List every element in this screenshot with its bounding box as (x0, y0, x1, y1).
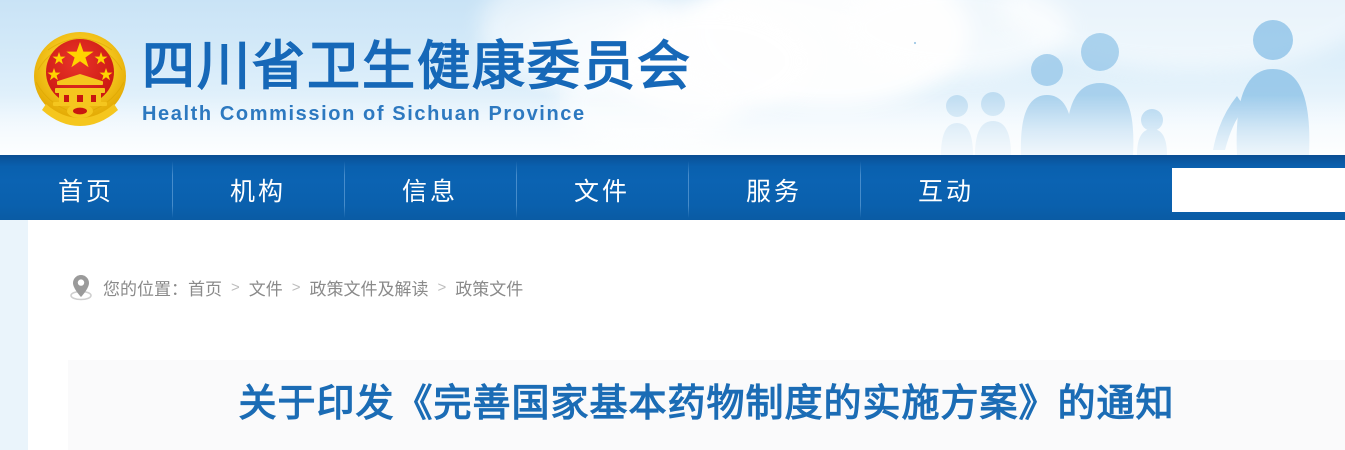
article-title: 关于印发《完善国家基本药物制度的实施方案》的通知 (68, 360, 1345, 432)
site-logo-text: 四川省卫生健康委员会 Health Commission of Sichuan … (142, 36, 692, 126)
nav-items-row: 首页 机构 信息 文件 服务 互动 (0, 155, 1345, 220)
page-root: 四川省卫生健康委员会 Health Commission of Sichuan … (0, 0, 1345, 450)
breadcrumb-item-policy-documents[interactable]: 政策文件 (455, 275, 523, 300)
breadcrumb-separator: > (283, 279, 310, 296)
page-body: 您的位置： 首页 > 文件 > 政策文件及解读 > 政策文件 关于印发《完善国家… (0, 220, 1345, 450)
location-pin-icon (68, 273, 94, 301)
article-panel: 关于印发《完善国家基本药物制度的实施方案》的通知 (68, 360, 1345, 450)
breadcrumb-item-home[interactable]: 首页 (188, 275, 222, 300)
nav-item-services[interactable]: 服务 (688, 155, 860, 220)
main-navigation: 首页 机构 信息 文件 服务 互动 (0, 155, 1345, 220)
site-header: 四川省卫生健康委员会 Health Commission of Sichuan … (0, 0, 1345, 155)
nav-item-information[interactable]: 信息 (344, 155, 516, 220)
breadcrumb-prefix: 您的位置： (103, 275, 188, 300)
breadcrumb: 您的位置： 首页 > 文件 > 政策文件及解读 > 政策文件 (68, 273, 523, 301)
breadcrumb-item-documents[interactable]: 文件 (249, 275, 283, 300)
site-name-en: Health Commission of Sichuan Province (142, 102, 692, 126)
site-name-cn: 四川省卫生健康委员会 (142, 36, 692, 98)
nav-item-organization[interactable]: 机构 (172, 155, 344, 220)
breadcrumb-separator: > (222, 279, 249, 296)
nav-item-interaction[interactable]: 互动 (860, 155, 1032, 220)
china-national-emblem-icon (28, 26, 132, 132)
nav-item-documents[interactable]: 文件 (516, 155, 688, 220)
content-card: 您的位置： 首页 > 文件 > 政策文件及解读 > 政策文件 关于印发《完善国家… (28, 220, 1345, 450)
search-input[interactable] (1172, 168, 1345, 212)
nav-item-home[interactable]: 首页 (0, 155, 172, 220)
breadcrumb-item-policy-docs-interpretation[interactable]: 政策文件及解读 (310, 275, 429, 300)
dove-icon (855, 30, 945, 80)
breadcrumb-separator: > (429, 279, 456, 296)
